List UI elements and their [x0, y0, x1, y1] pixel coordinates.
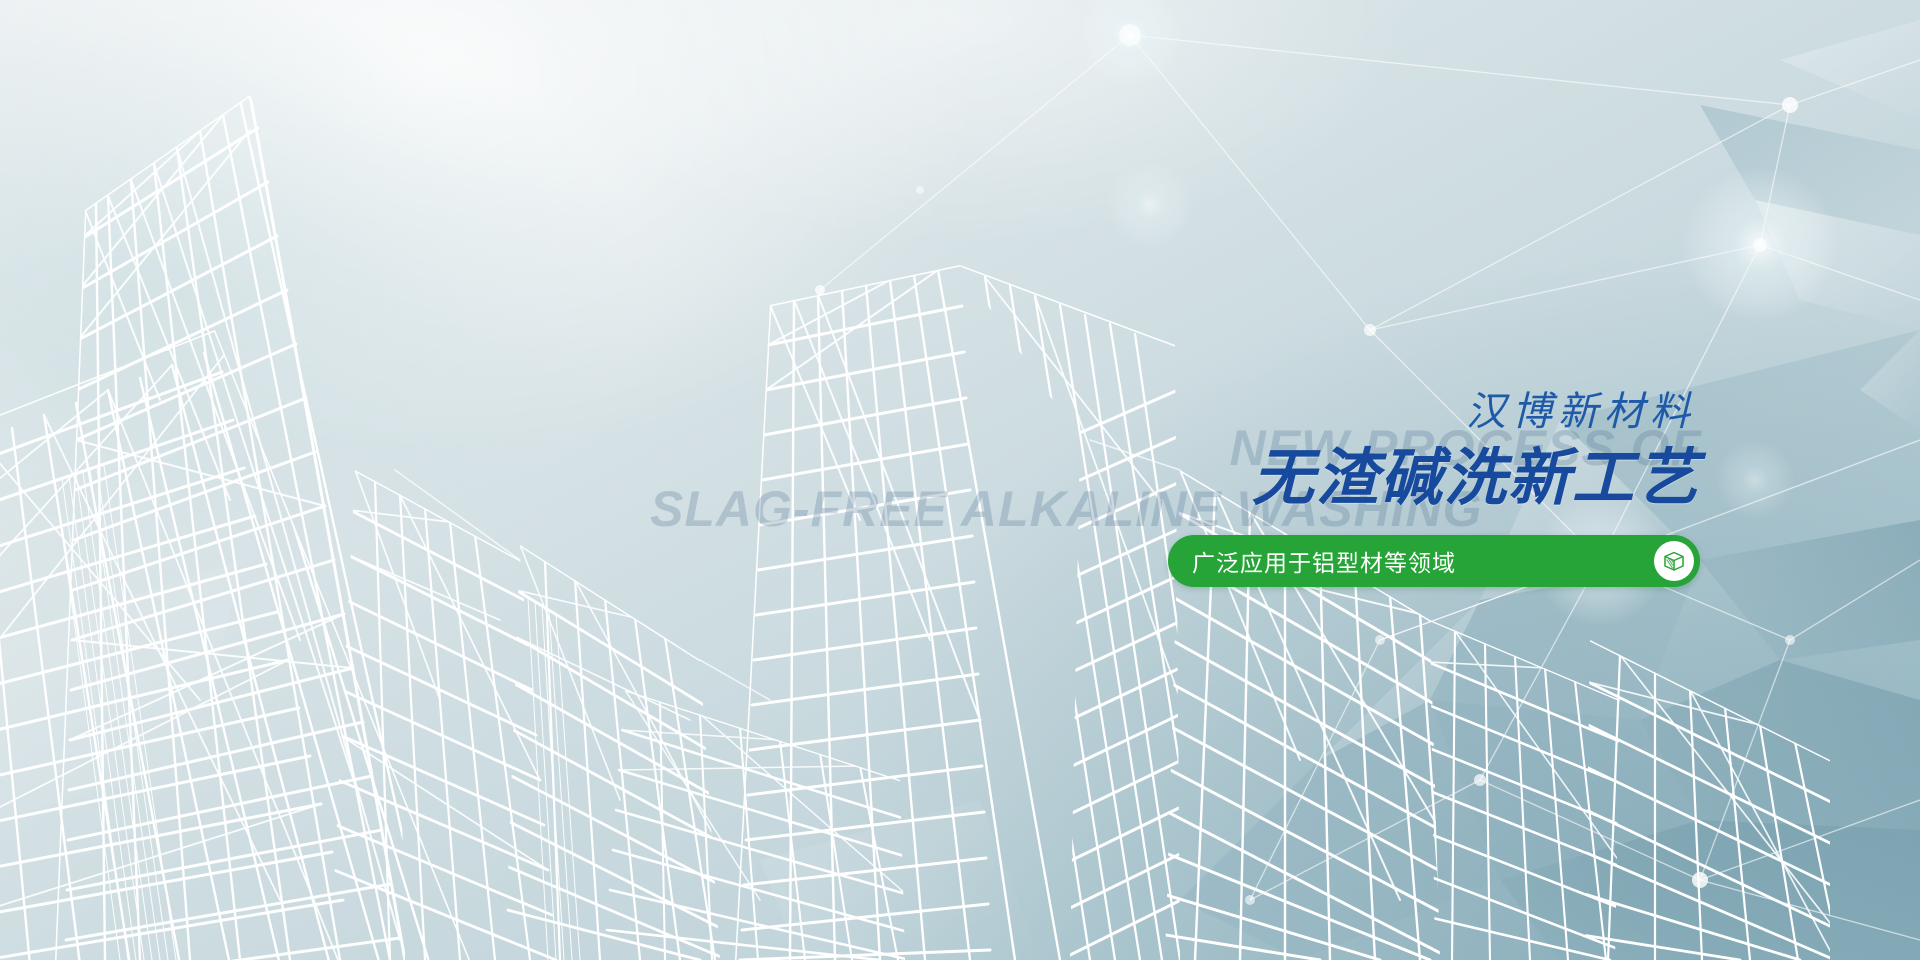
banner-content: 汉博新材料 无渣碱洗新工艺 广泛应用于铝型材等领域: [1140, 390, 1700, 587]
brand-name: 汉博新材料: [1140, 390, 1700, 434]
headline-title: 无渣碱洗新工艺: [1140, 444, 1700, 513]
application-pill-label: 广泛应用于铝型材等领域: [1192, 544, 1456, 578]
application-pill[interactable]: 广泛应用于铝型材等领域: [1168, 535, 1700, 587]
aluminium-profile-cube-icon: [1654, 541, 1694, 581]
promo-banner: NEW PROCESS OF SLAG-FREE ALKALINE WASHIN…: [0, 0, 1920, 960]
